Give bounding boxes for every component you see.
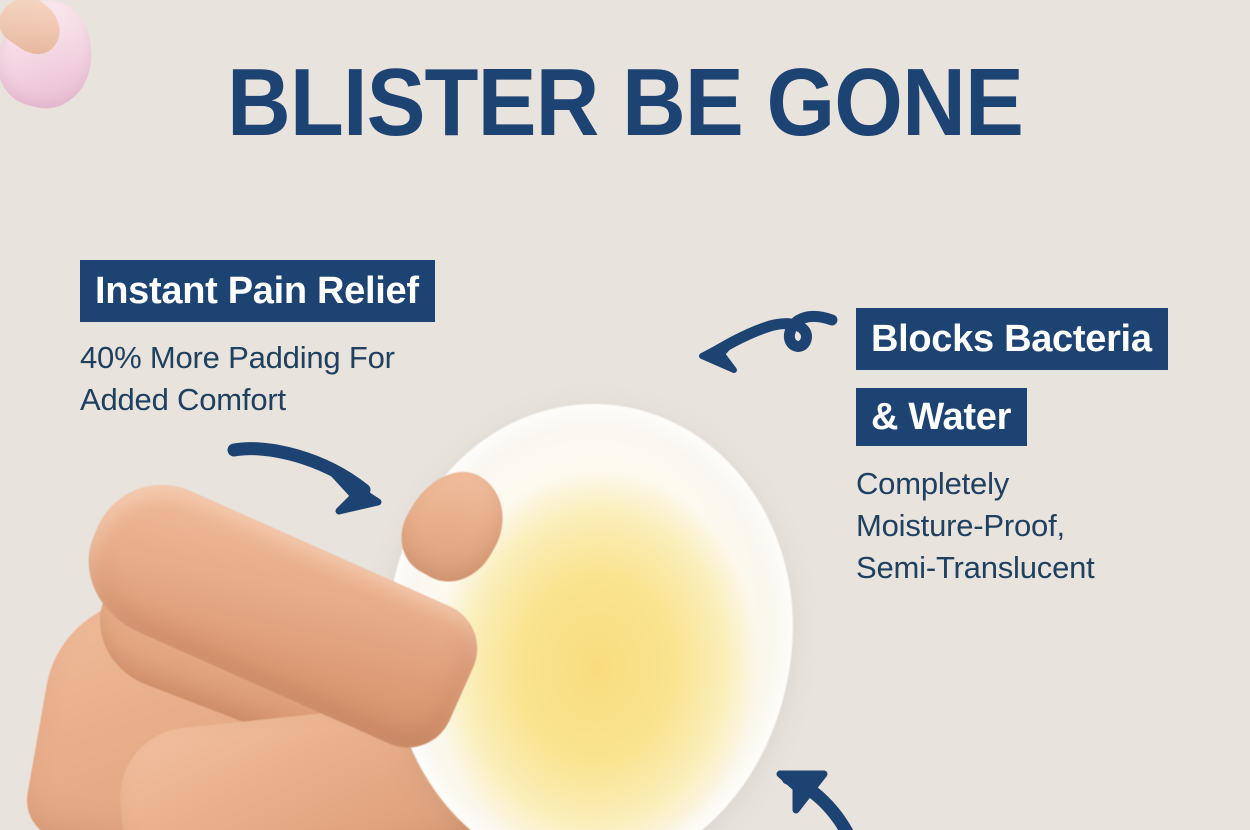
feature-description-right: Completely Moisture-Proof, Semi-Transluc… xyxy=(856,463,1186,589)
curled-arrow-left-icon xyxy=(690,302,850,382)
curved-arrow-down-right-icon xyxy=(228,438,408,528)
page-title: BLISTER BE GONE xyxy=(50,55,1200,151)
feature-description-left: 40% More Padding For Added Comfort xyxy=(80,337,500,421)
curved-arrow-up-left-icon xyxy=(762,758,892,830)
feature-badge-instant-pain-relief: Instant Pain Relief xyxy=(80,260,435,322)
infographic-canvas: BLISTER BE GONE Instant Pain Relief 40% … xyxy=(0,0,1250,830)
feature-badge-and-water: & Water xyxy=(856,388,1027,446)
feature-badge-blocks-bacteria: Blocks Bacteria xyxy=(856,308,1168,370)
